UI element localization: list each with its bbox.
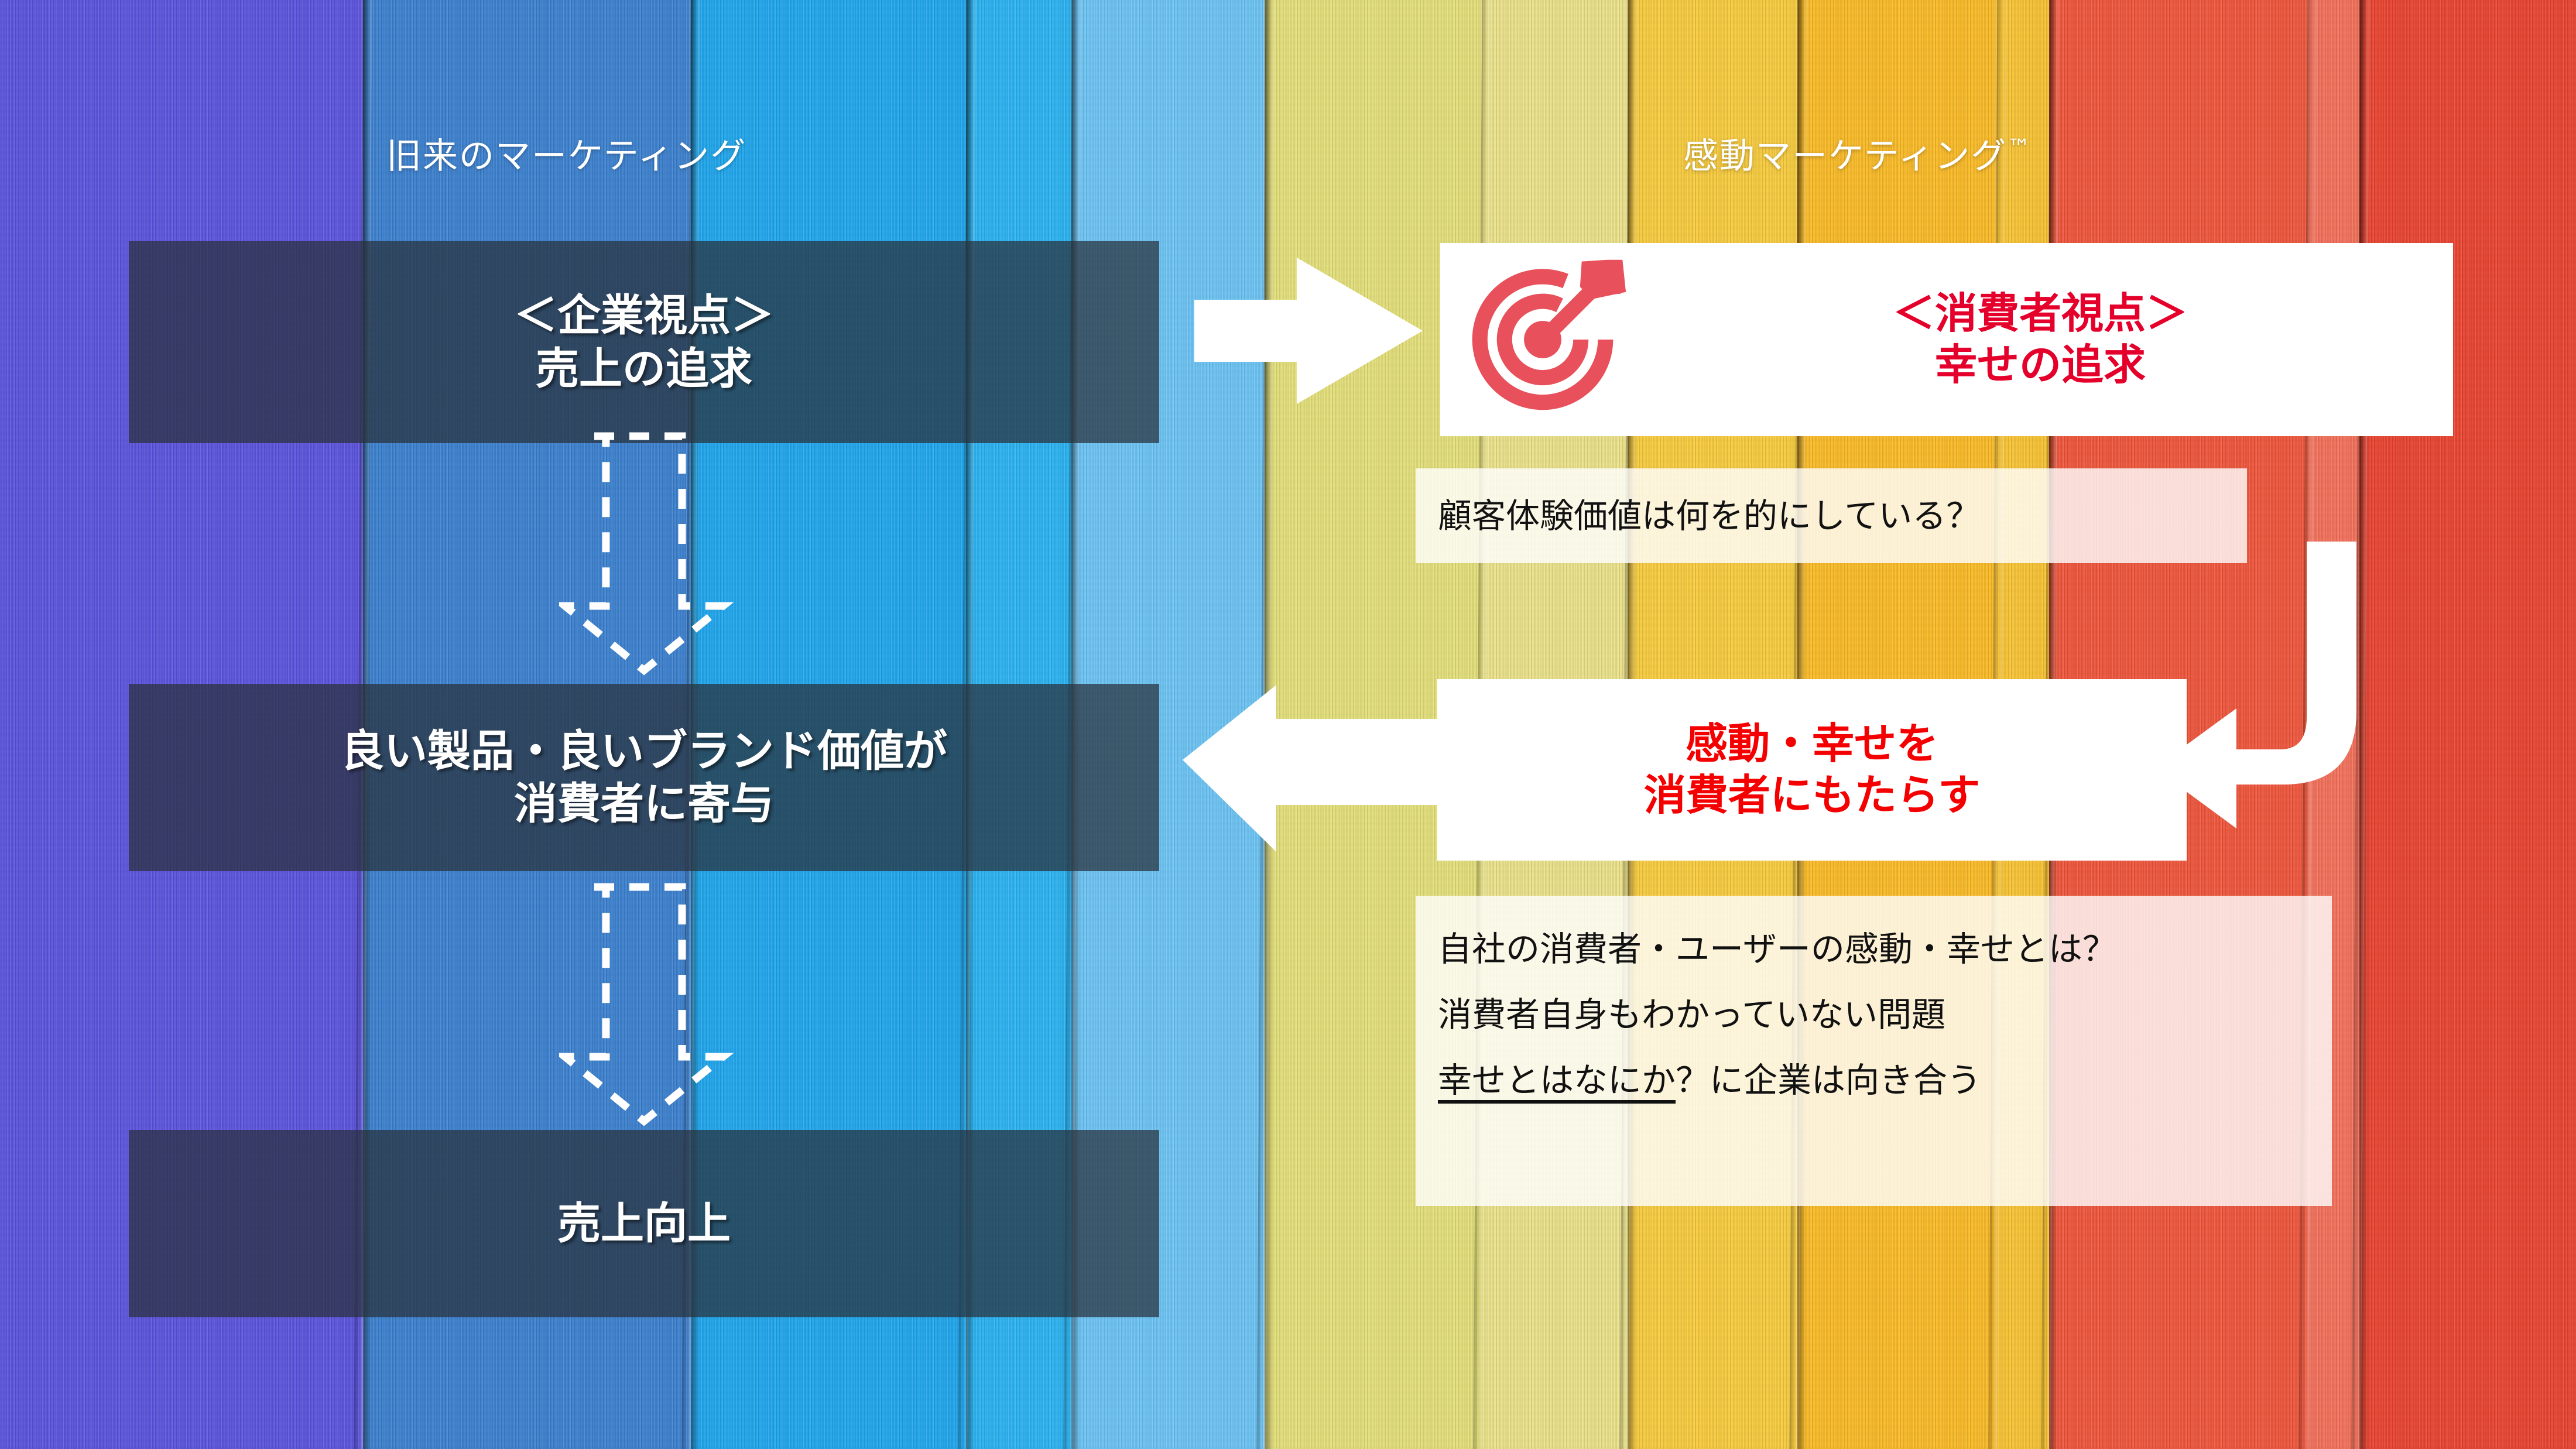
right-flow-box-2-text: 感動・幸せを 消費者にもたらす [1644,718,1981,821]
right-flow-box-1[interactable]: ＜消費者視点＞ 幸せの追求 [1440,243,2453,436]
left-flow-box-3[interactable]: 売上向上 [129,1130,1159,1317]
right-flow-note-2: 自社の消費者・ユーザーの感動・幸せとは？ 消費者自身もわかっていない問題 幸せと… [1416,896,2332,1206]
column-title-kando-marketing-label: 感動マーケティング [1683,136,2007,177]
right-flow-note-2-line3: 幸せとはなにか？に企業は向き合う [1438,1063,2332,1097]
left-flow-box-2-line2: 消費者に寄与 [514,777,774,830]
right-flow-note-2-line3-underlined: 幸せとはなにか [1438,1060,1676,1100]
slide-root: 旧来のマーケティング 感動マーケティング™ ＜企業視点＞ 売上の追求 良い製品・… [0,0,2576,1449]
target-bullseye-arrow-icon [1458,255,1628,424]
trademark-symbol: ™ [2007,135,2030,162]
right-flow-note-2-line2: 消費者自身もわかっていない問題 [1438,998,2332,1032]
right-flow-note-1-text: 顧客体験価値は何を的にしている？ [1438,499,1980,533]
arrow-right-icon [1194,258,1423,404]
right-flow-note-2-line3-rest: ？に企業は向き合う [1676,1060,1981,1100]
right-flow-box-1-line2: 幸せの追求 [1628,340,2453,391]
left-flow-box-2[interactable]: 良い製品・良いブランド価値が 消費者に寄与 [129,684,1159,871]
curved-arrow-down-left-icon [2149,536,2512,846]
arrow-left-icon [1183,685,1452,855]
left-flow-box-3-line1: 売上向上 [557,1197,731,1250]
left-flow-box-1-line1: ＜企業視点＞ [514,289,774,342]
right-flow-box-1-line1: ＜消費者視点＞ [1628,288,2453,340]
left-flow-box-1[interactable]: ＜企業視点＞ 売上の追求 [129,241,1159,443]
dashed-down-arrow-icon [559,430,735,676]
left-flow-box-2-line1: 良い製品・良いブランド価値が [341,725,947,777]
right-flow-box-2-line2: 消費者にもたらす [1644,770,1981,821]
right-flow-note-2-line1: 自社の消費者・ユーザーの感動・幸せとは？ [1438,932,2332,966]
right-flow-note-1: 顧客体験価値は何を的にしている？ [1416,468,2247,563]
right-flow-box-1-text: ＜消費者視点＞ 幸せの追求 [1628,288,2453,391]
left-flow-box-1-line2: 売上の追求 [536,342,752,395]
column-title-kando-marketing: 感動マーケティング™ [1683,128,2030,179]
dashed-down-arrow-icon [559,881,735,1127]
right-flow-box-2-line1: 感動・幸せを [1644,718,1981,770]
right-flow-box-2[interactable]: 感動・幸せを 消費者にもたらす [1437,679,2187,861]
column-title-legacy-marketing: 旧来のマーケティング [386,128,746,179]
